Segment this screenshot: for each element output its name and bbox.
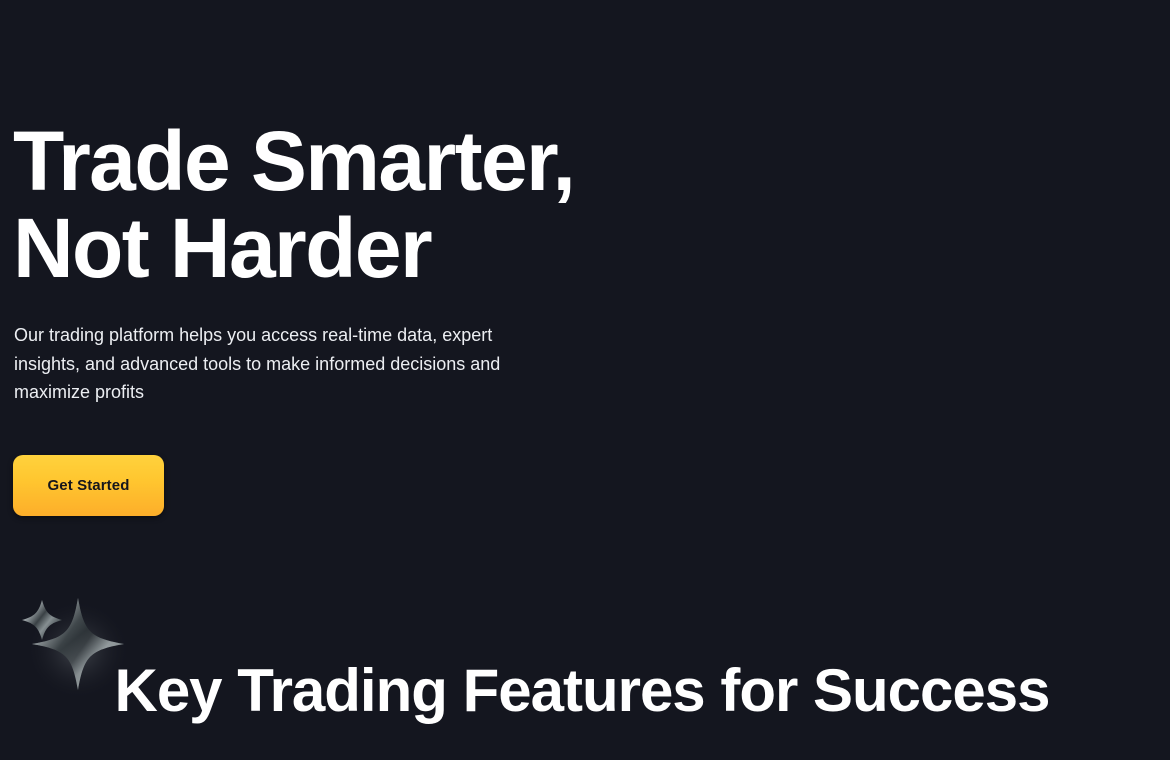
page-title: Trade Smarter, Not Harder xyxy=(13,118,713,292)
features-heading: Key Trading Features for Success xyxy=(0,655,1164,726)
get-started-button[interactable]: Get Started xyxy=(13,455,164,516)
landing-page: Trade Smarter, Not Harder Our trading pl… xyxy=(0,0,1170,760)
hero-subtitle: Our trading platform helps you access re… xyxy=(14,321,514,407)
features-section: Key Trading Features for Success xyxy=(0,655,1164,726)
